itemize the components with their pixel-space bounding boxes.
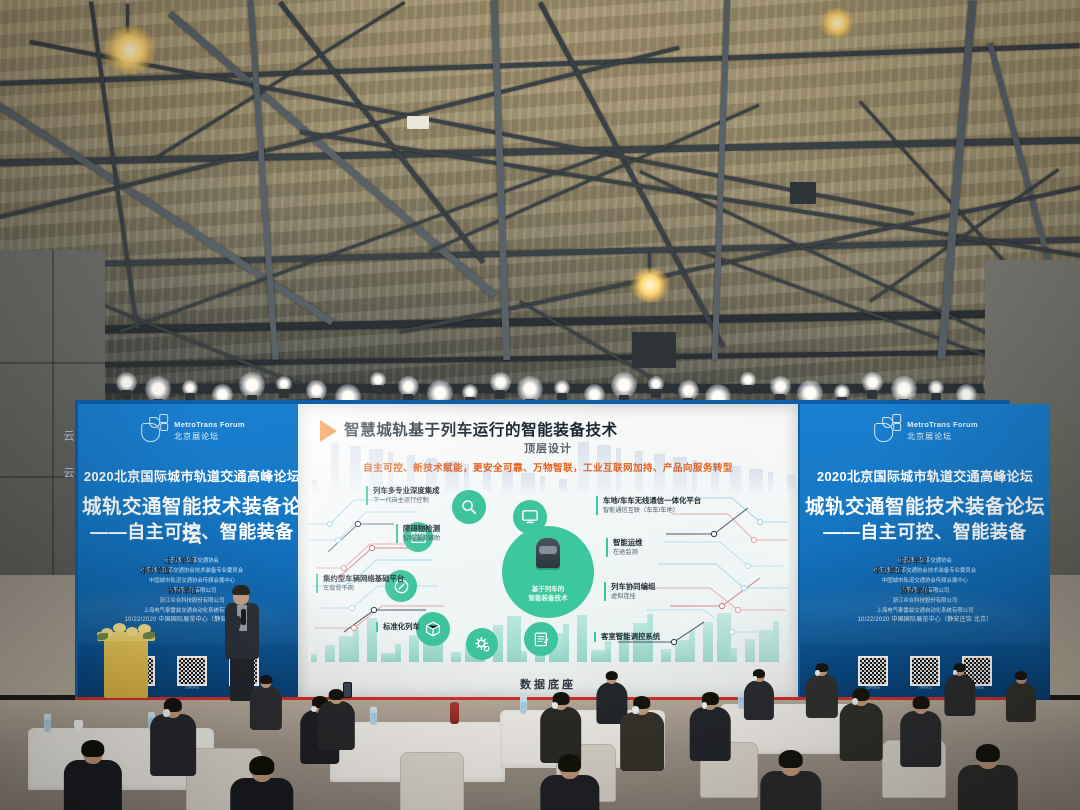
organizer-line: 承办单位：中国城市轨道交通协会技术装备专业委员会: [78, 566, 306, 576]
organizer-line: 承办单位：中国城市轨道交通协会技术装备专业委员会: [800, 566, 1050, 576]
audience-person: [900, 698, 942, 770]
banner-organizers-right: 主办单位：中国城市轨道交通协会承办单位：中国城市轨道交通协会技术装备专业委员会中…: [800, 556, 1050, 616]
stage-light-housing: [743, 385, 753, 394]
screenshot-root: MetroTrans Forum 北京展论坛 2020北京国际城市轨道交通高峰论…: [0, 0, 1080, 810]
face-mask: [632, 706, 638, 713]
audience-person: [944, 664, 975, 718]
water-bottle: [44, 714, 51, 732]
organizer-line: 浙江众合科技股份有限公司: [800, 596, 1050, 606]
audience-person: [250, 676, 282, 732]
person-hair: [260, 675, 273, 685]
person-torso: [944, 674, 975, 716]
audience-person: [318, 690, 354, 753]
person-torso: [230, 778, 293, 810]
stage-light-housing: [651, 389, 661, 398]
audience-person: [690, 694, 731, 764]
audience-person: [150, 700, 196, 779]
banner-line3: ——自主可控、智能装备: [78, 518, 306, 544]
qr-code: 扫码关注: [858, 656, 888, 686]
ceiling-truss-structure: [0, 0, 1080, 415]
organizer-line: 主办单位：中国城市轨道交通协会: [800, 556, 1050, 566]
logo-text-en: MetroTrans Forum: [907, 420, 978, 429]
qr-code: 扫码关注: [910, 656, 940, 686]
ceiling-lamp: [820, 8, 854, 38]
banner-side-strip: 云云: [60, 430, 76, 630]
person-hair: [249, 756, 274, 775]
person-torso: [690, 707, 731, 762]
organizer-line: 协办单位：卡斯柯信号有限公司: [800, 586, 1050, 596]
audience-person: [540, 756, 599, 810]
organizer-line: 中国城市轨道交通协会传媒会展中心: [78, 576, 306, 586]
person-hair: [329, 689, 344, 700]
logo-text-en: MetroTrans Forum: [174, 420, 245, 429]
organizer-line: 主办单位：中国城市轨道交通协会: [78, 556, 306, 566]
person-hair: [778, 750, 803, 768]
logo-text-cn: 北京展论坛: [907, 433, 978, 441]
logo-text-cn: 北京展论坛: [174, 433, 245, 441]
smartphone: [343, 682, 352, 698]
person-hair: [1015, 671, 1027, 680]
banner-line1: 2020北京国际城市轨道交通高峰论坛: [800, 466, 1050, 485]
person-hair: [558, 754, 582, 772]
microphone-icon: [241, 609, 246, 625]
audience-person: [64, 742, 122, 810]
qr-code: 扫码关注: [177, 656, 207, 686]
audience-person: [744, 670, 774, 722]
audience-person: [806, 664, 838, 720]
podium: [104, 636, 148, 698]
person-torso: [150, 714, 196, 776]
organizer-line: 协办单位：卡斯柯信号有限公司: [78, 586, 306, 596]
banner-line2: 城轨交通智能技术装备论坛: [800, 490, 1050, 519]
banner-right: MetroTrans Forum 北京展论坛 2020北京国际城市轨道交通高峰论…: [800, 404, 1050, 700]
person-torso: [744, 680, 774, 721]
organizer-line: 中国城市轨道交通协会传媒会展中心: [800, 576, 1050, 586]
screen-glare: [298, 404, 798, 700]
water-bottle: [370, 707, 377, 725]
audience-chair: [400, 752, 464, 810]
audience-person: [1006, 672, 1036, 724]
forum-logo-mark-icon: [872, 414, 902, 442]
person-torso: [318, 701, 354, 750]
banner-line3: ——自主可控、智能装备: [800, 518, 1050, 544]
ceiling-lamp: [630, 268, 670, 302]
audience-person: [958, 746, 1018, 810]
person-hair: [605, 671, 618, 680]
stage-light-housing: [495, 390, 505, 399]
audience-person: [840, 690, 883, 764]
face-mask: [753, 676, 757, 681]
flower-arrangement: [97, 620, 157, 642]
person-hair: [976, 744, 1000, 762]
person-torso: [760, 771, 821, 810]
metrotrans-forum-logo: MetroTrans Forum 北京展论坛: [872, 414, 978, 442]
banner-organizers-left: 主办单位：中国城市轨道交通协会承办单位：中国城市轨道交通协会技术装备专业委员会中…: [78, 556, 306, 616]
audience-person: [620, 698, 664, 774]
person-torso: [1006, 682, 1036, 723]
person-hair: [81, 740, 104, 757]
person-torso: [250, 686, 282, 729]
paper-cup: [74, 720, 83, 730]
face-mask: [815, 670, 820, 675]
forum-logo-mark-icon: [139, 414, 169, 442]
face-mask: [552, 702, 558, 709]
banner-date-venue-right: 10/22/2020 中国国际展览中心（静安庄馆 北京）: [800, 614, 1050, 623]
stage-light-housing: [373, 385, 383, 394]
person-torso: [840, 703, 883, 760]
face-mask: [702, 702, 708, 709]
person-torso: [958, 765, 1018, 810]
person-torso: [64, 760, 122, 810]
stage-light-housing: [121, 390, 131, 399]
ceiling-lamp: [104, 26, 156, 74]
thermos: [450, 702, 459, 724]
person-hair: [912, 696, 929, 708]
water-bottle: [520, 696, 527, 714]
person-torso: [540, 775, 599, 810]
equipment-box: [790, 182, 816, 204]
speaker-box: [632, 332, 676, 368]
person-torso: [620, 712, 664, 771]
metrotrans-forum-logo: MetroTrans Forum 北京展论坛: [139, 414, 245, 442]
banner-line1: 2020北京国际城市轨道交通高峰论坛: [78, 466, 306, 485]
audience-person: [760, 752, 821, 810]
projection-screen: 智慧城轨基于列车运行的智能装备技术 顶层设计 自主可控、新技术赋能，更安全可靠、…: [298, 404, 798, 700]
person-torso: [806, 674, 838, 717]
organizer-line: 浙江众合科技股份有限公司: [78, 596, 306, 606]
floodlight-fixture: [407, 116, 429, 129]
stage-light-housing: [279, 389, 289, 398]
face-mask: [163, 709, 170, 717]
audience-person: [230, 758, 293, 810]
stage-light-housing: [867, 390, 877, 399]
person-torso: [900, 711, 942, 767]
